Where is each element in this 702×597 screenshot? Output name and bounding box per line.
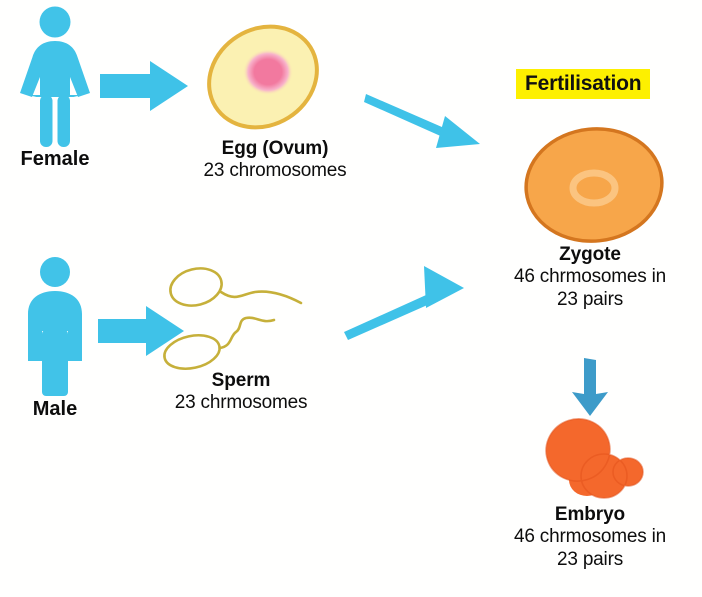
embryo-caption: Embryo 46 chrmosomes in 23 pairs [478, 504, 702, 571]
zygote-subtitle-line2: 23 pairs [478, 289, 702, 311]
male-person-icon [12, 256, 98, 398]
female-label: Female [4, 148, 106, 171]
sperm-subtitle: 23 chrmosomes [128, 392, 354, 414]
male-label: Male [4, 398, 106, 421]
fertilisation-label-box: Fertilisation [516, 72, 650, 96]
egg-cell-icon [196, 14, 330, 140]
zygote-title: Zygote [478, 244, 702, 266]
zygote-cell-icon [518, 122, 670, 248]
egg-to-zygote-arrow [362, 82, 502, 162]
sperm-cell-icon [158, 262, 342, 374]
egg-subtitle: 23 chromosomes [150, 160, 400, 182]
embryo-subtitle-line2: 23 pairs [478, 549, 702, 571]
zygote-to-embryo-arrow [562, 358, 618, 418]
embryo-cluster-icon [534, 414, 658, 508]
zygote-subtitle-line1: 46 chrmosomes in [478, 266, 702, 288]
embryo-title: Embryo [478, 504, 702, 526]
sperm-to-zygote-arrow [342, 258, 492, 340]
fertilisation-label: Fertilisation [516, 69, 650, 99]
zygote-caption: Zygote 46 chrmosomes in 23 pairs [478, 244, 702, 311]
female-to-egg-arrow [98, 58, 190, 114]
sperm-title: Sperm [128, 370, 354, 392]
sperm-caption: Sperm 23 chrmosomes [128, 370, 354, 415]
fertilisation-diagram: Female Egg (Ovum) 23 chromosomes [0, 0, 702, 597]
female-person-icon [10, 5, 100, 150]
embryo-subtitle-line1: 46 chrmosomes in [478, 526, 702, 548]
